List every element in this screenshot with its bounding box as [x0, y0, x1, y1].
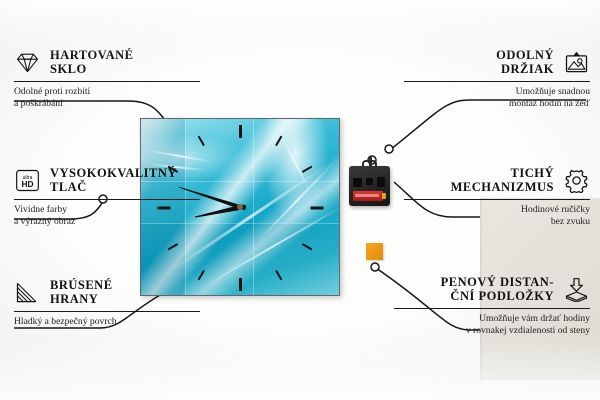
- divider: [14, 81, 200, 82]
- feature-subtitle: Odolné proti rozbití a poškrábání: [14, 86, 200, 110]
- feature-hq-print: ultra HD VYSOKOKVALITNÝ TLAČ Vivídne far…: [14, 166, 200, 228]
- feature-title: HARTOVANÉ SKLO: [50, 48, 133, 76]
- feature-title: ODOLNÝ DRŽIAK: [496, 48, 554, 76]
- picture-hanger-icon: [563, 50, 590, 75]
- feature-silent-mechanism: TICHÝ MECHANIZMUS Hodinové ručičky bez z…: [404, 166, 590, 228]
- feature-title: TICHÝ MECHANIZMUS: [451, 166, 554, 194]
- divider: [394, 308, 590, 309]
- clock-tick: [311, 207, 324, 210]
- feature-subtitle: Hodinové ručičky bez zvuku: [404, 204, 590, 228]
- divider: [404, 199, 590, 200]
- product-infographic: HARTOVANÉ SKLO Odolné proti rozbití a po…: [0, 0, 600, 400]
- clock-tick: [239, 278, 242, 291]
- clock-hub: [237, 204, 243, 210]
- feature-durable-hanger: ODOLNÝ DRŽIAK Umožňuje snadnou montáž ho…: [404, 48, 590, 110]
- clock-tick: [239, 125, 242, 138]
- feature-subtitle: Hladký a bezpečný povrch: [14, 316, 200, 328]
- feature-subtitle: Umožňuje vám držať hodiny v rovnakej vzd…: [394, 313, 590, 337]
- feature-subtitle: Umožňuje snadnou montáž hodin na zeď: [404, 86, 590, 110]
- divider: [14, 199, 200, 200]
- clock-mechanism: [349, 166, 390, 206]
- feature-title: BRÚSENÉ HRANY: [50, 278, 113, 306]
- feature-tempered-glass: HARTOVANÉ SKLO Odolné proti rozbití a po…: [14, 48, 200, 110]
- feature-foam-spacers: PENOVÝ DISTAN- ČNÍ PODLOŽKY Umožňuje vám…: [394, 275, 590, 337]
- feature-ground-edges: BRÚSENÉ HRANY Hladký a bezpečný povrch: [14, 278, 200, 328]
- divider: [14, 311, 200, 312]
- svg-text:HD: HD: [21, 179, 33, 189]
- feature-title: PENOVÝ DISTAN- ČNÍ PODLOŽKY: [441, 275, 554, 303]
- ultra-hd-icon: ultra HD: [14, 168, 41, 193]
- foam-pad-icon: [563, 277, 590, 302]
- feature-subtitle: Vivídne farby a výrazný obraz: [14, 204, 200, 228]
- divider: [404, 81, 590, 82]
- gear-icon: [563, 168, 590, 193]
- feature-title: VYSOKOKVALITNÝ TLAČ: [50, 166, 177, 194]
- diamond-icon: [14, 50, 41, 75]
- foam-spacer-pad: [366, 243, 383, 260]
- ground-edges-icon: [14, 280, 41, 305]
